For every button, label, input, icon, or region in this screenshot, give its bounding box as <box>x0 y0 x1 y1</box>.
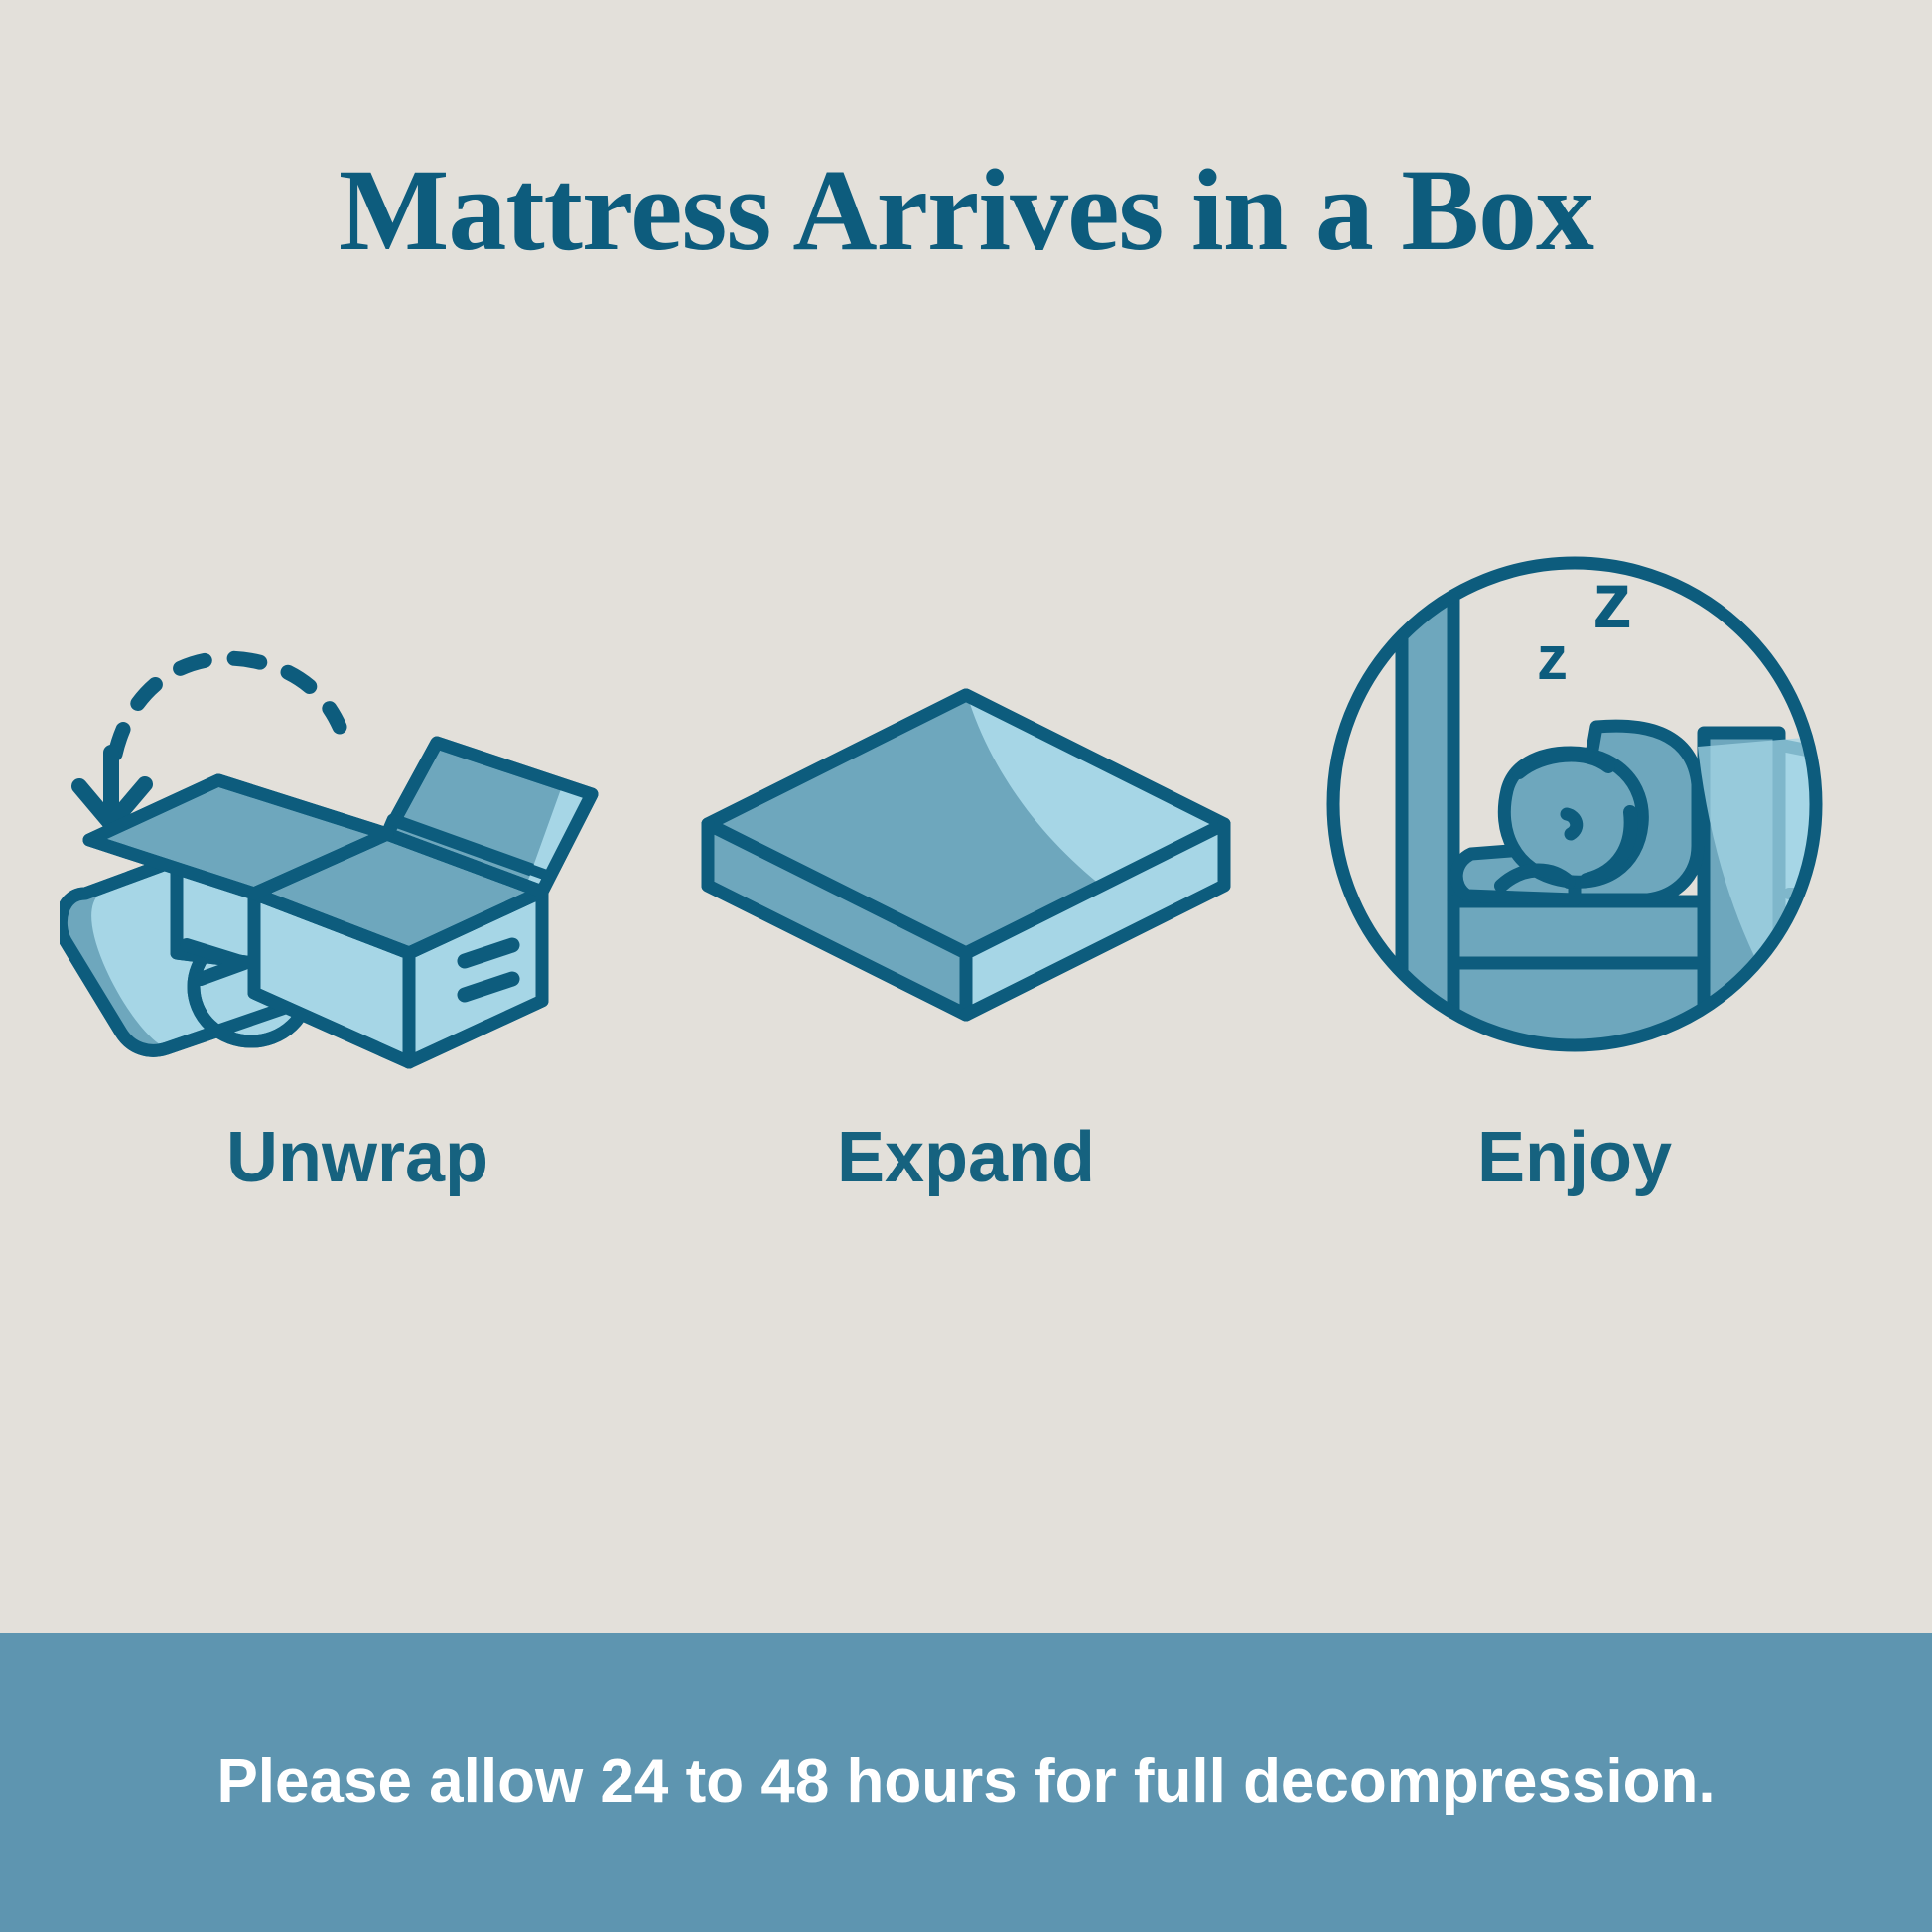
step-label-enjoy: Enjoy <box>1477 1122 1672 1193</box>
person-sleeping-in-bed-icon: z z <box>1277 496 1872 1112</box>
page-title: Mattress Arrives in a Box <box>0 149 1932 272</box>
footer-banner: Please allow 24 to 48 hours for full dec… <box>0 1633 1932 1932</box>
step-expand: Expand <box>668 496 1264 1193</box>
step-unwrap: Unwrap <box>60 496 655 1193</box>
unwrap-art <box>60 496 655 1112</box>
infographic-page: Mattress Arrives in a Box <box>0 0 1932 1932</box>
enjoy-art: z z <box>1277 496 1872 1112</box>
steps-row: Unwrap <box>0 496 1932 1311</box>
sleep-z-marks-icon: z z <box>1537 556 1632 693</box>
expand-art <box>668 496 1264 1112</box>
step-label-expand: Expand <box>837 1122 1095 1193</box>
decompression-note: Please allow 24 to 48 hours for full dec… <box>216 1748 1715 1816</box>
step-enjoy: z z Enjoy <box>1277 496 1872 1193</box>
open-box-with-rolled-mattress-icon <box>60 496 655 1112</box>
step-label-unwrap: Unwrap <box>226 1122 488 1193</box>
sleep-z-small: z <box>1537 624 1568 693</box>
flat-mattress-icon <box>668 496 1264 1112</box>
